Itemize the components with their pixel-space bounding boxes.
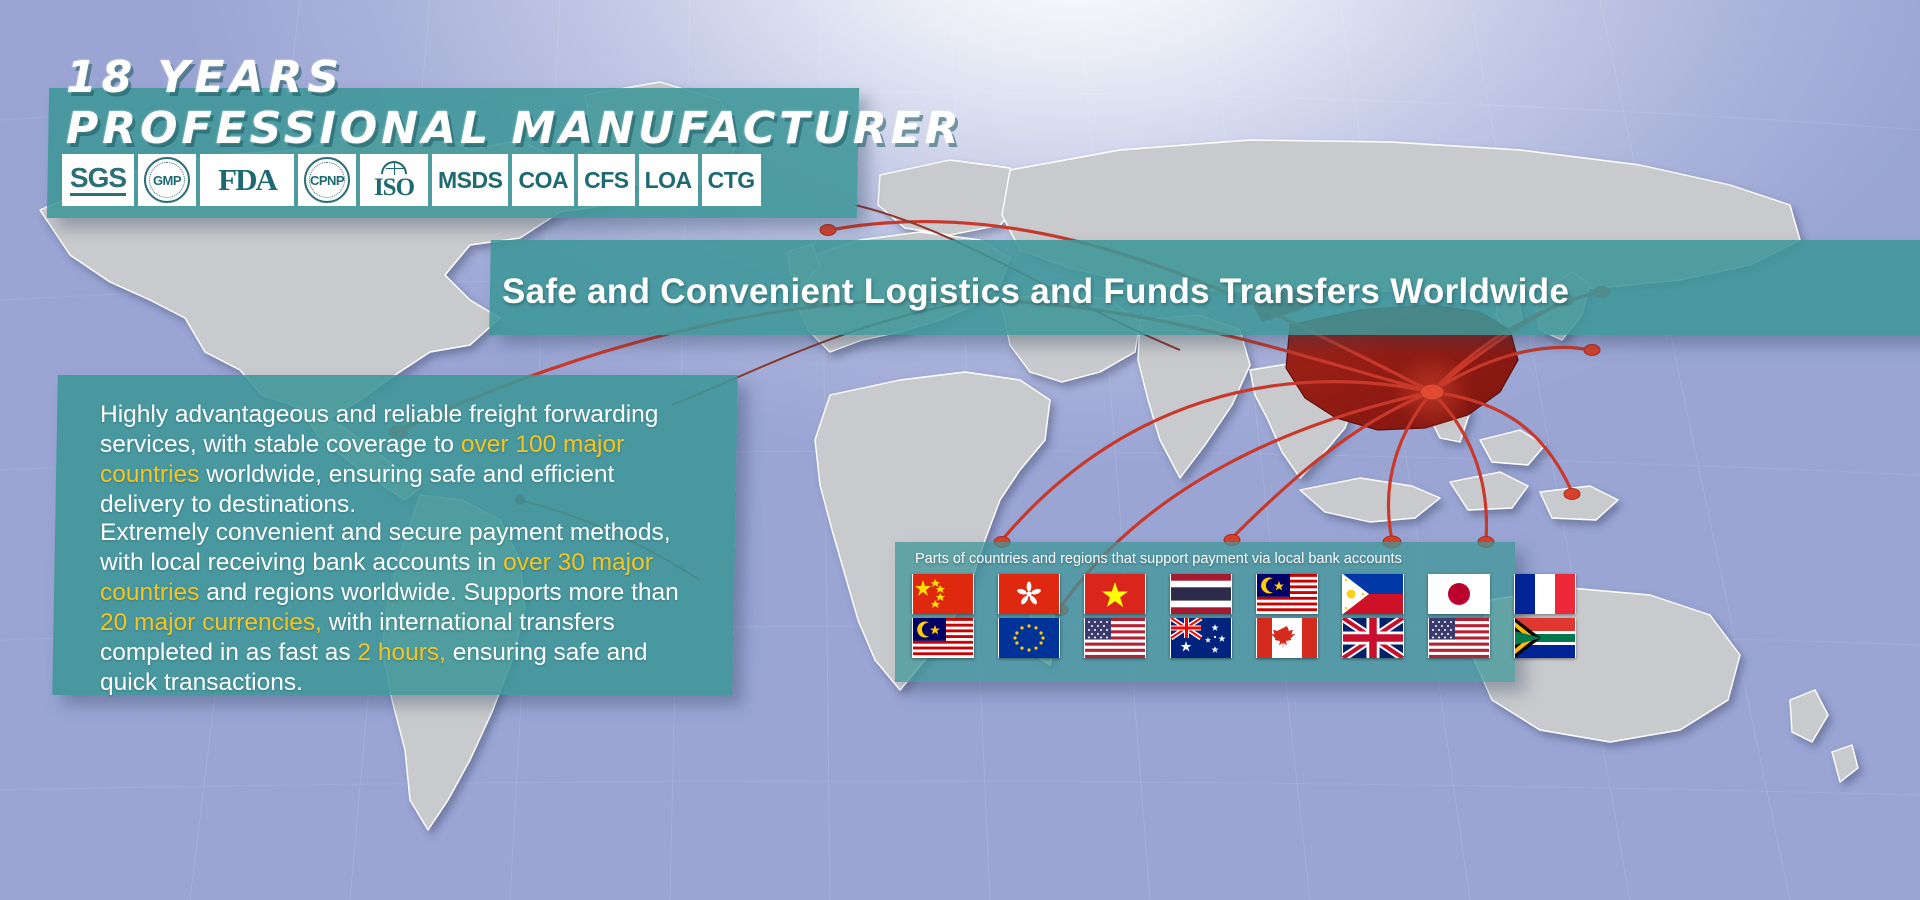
flag-us	[1428, 618, 1490, 658]
flag-gb	[1342, 618, 1404, 658]
cert-badge-loa: LOA	[639, 154, 698, 206]
payment-flag-grid	[912, 574, 1588, 658]
cert-label-coa: COA	[518, 167, 568, 194]
page-title-years: 18 YEARS	[66, 52, 344, 103]
cert-badge-sgs: SGS	[62, 154, 134, 206]
poster-canvas: 18 YEARS PROFESSIONAL MANUFACTURER SGS G…	[0, 0, 1920, 900]
page-title-manufacturer: PROFESSIONAL MANUFACTURER	[66, 103, 963, 154]
cert-badge-ctg: CTG	[702, 154, 761, 206]
cert-label-iso: ISO	[374, 175, 414, 200]
cert-badge-cpnp: CPNP	[298, 154, 356, 206]
cert-badge-gmp: GMP	[138, 154, 196, 206]
cert-label-gmp: GMP	[153, 173, 181, 188]
cert-label-cfs: CFS	[584, 167, 629, 194]
flag-ca	[1256, 618, 1318, 658]
headline-banner-text: Safe and Convenient Logistics and Funds …	[502, 272, 1920, 312]
cert-label-ctg: CTG	[708, 167, 755, 194]
flag-jp	[1428, 574, 1490, 614]
cpnp-seal-icon: CPNP	[304, 157, 350, 203]
cert-label-msds: MSDS	[438, 167, 502, 194]
flag-ph	[1342, 574, 1404, 614]
flag-th	[1170, 574, 1232, 614]
cert-badge-iso: ISO	[360, 154, 428, 206]
payment-flags-caption: Parts of countries and regions that supp…	[915, 551, 1515, 567]
cert-label-loa: LOA	[645, 167, 692, 194]
flag-au	[1170, 618, 1232, 658]
cert-label-fda: FDA	[218, 162, 276, 198]
body-text: and regions worldwide. Supports more tha…	[199, 579, 678, 606]
flag-my	[1256, 574, 1318, 614]
flag-hk	[998, 574, 1060, 614]
flag-za	[1514, 618, 1576, 658]
globe-icon	[381, 161, 407, 174]
flag-cn	[912, 574, 974, 614]
flag-my	[912, 618, 974, 658]
highlighted-text: 2 hours,	[357, 639, 446, 666]
description-paragraph-1: Highly advantageous and reliable freight…	[100, 400, 700, 520]
description-paragraph-2: Extremely convenient and secure payment …	[100, 518, 700, 698]
cert-badge-msds: MSDS	[432, 154, 508, 206]
cert-badge-cfs: CFS	[578, 154, 635, 206]
cert-label-sgs: SGS	[70, 164, 126, 196]
highlighted-text: 20 major currencies,	[100, 609, 322, 636]
flag-us	[1084, 618, 1146, 658]
cert-label-cpnp: CPNP	[310, 173, 344, 188]
flag-vn	[1084, 574, 1146, 614]
gmp-seal-icon: GMP	[144, 157, 190, 203]
cert-badge-fda: FDA	[200, 154, 294, 206]
flag-fr	[1514, 574, 1576, 614]
cert-badge-coa: COA	[512, 154, 574, 206]
flag-eu	[998, 618, 1060, 658]
certification-badge-row: SGS GMP FDA CPNP ISO MSDS COA	[62, 154, 761, 206]
